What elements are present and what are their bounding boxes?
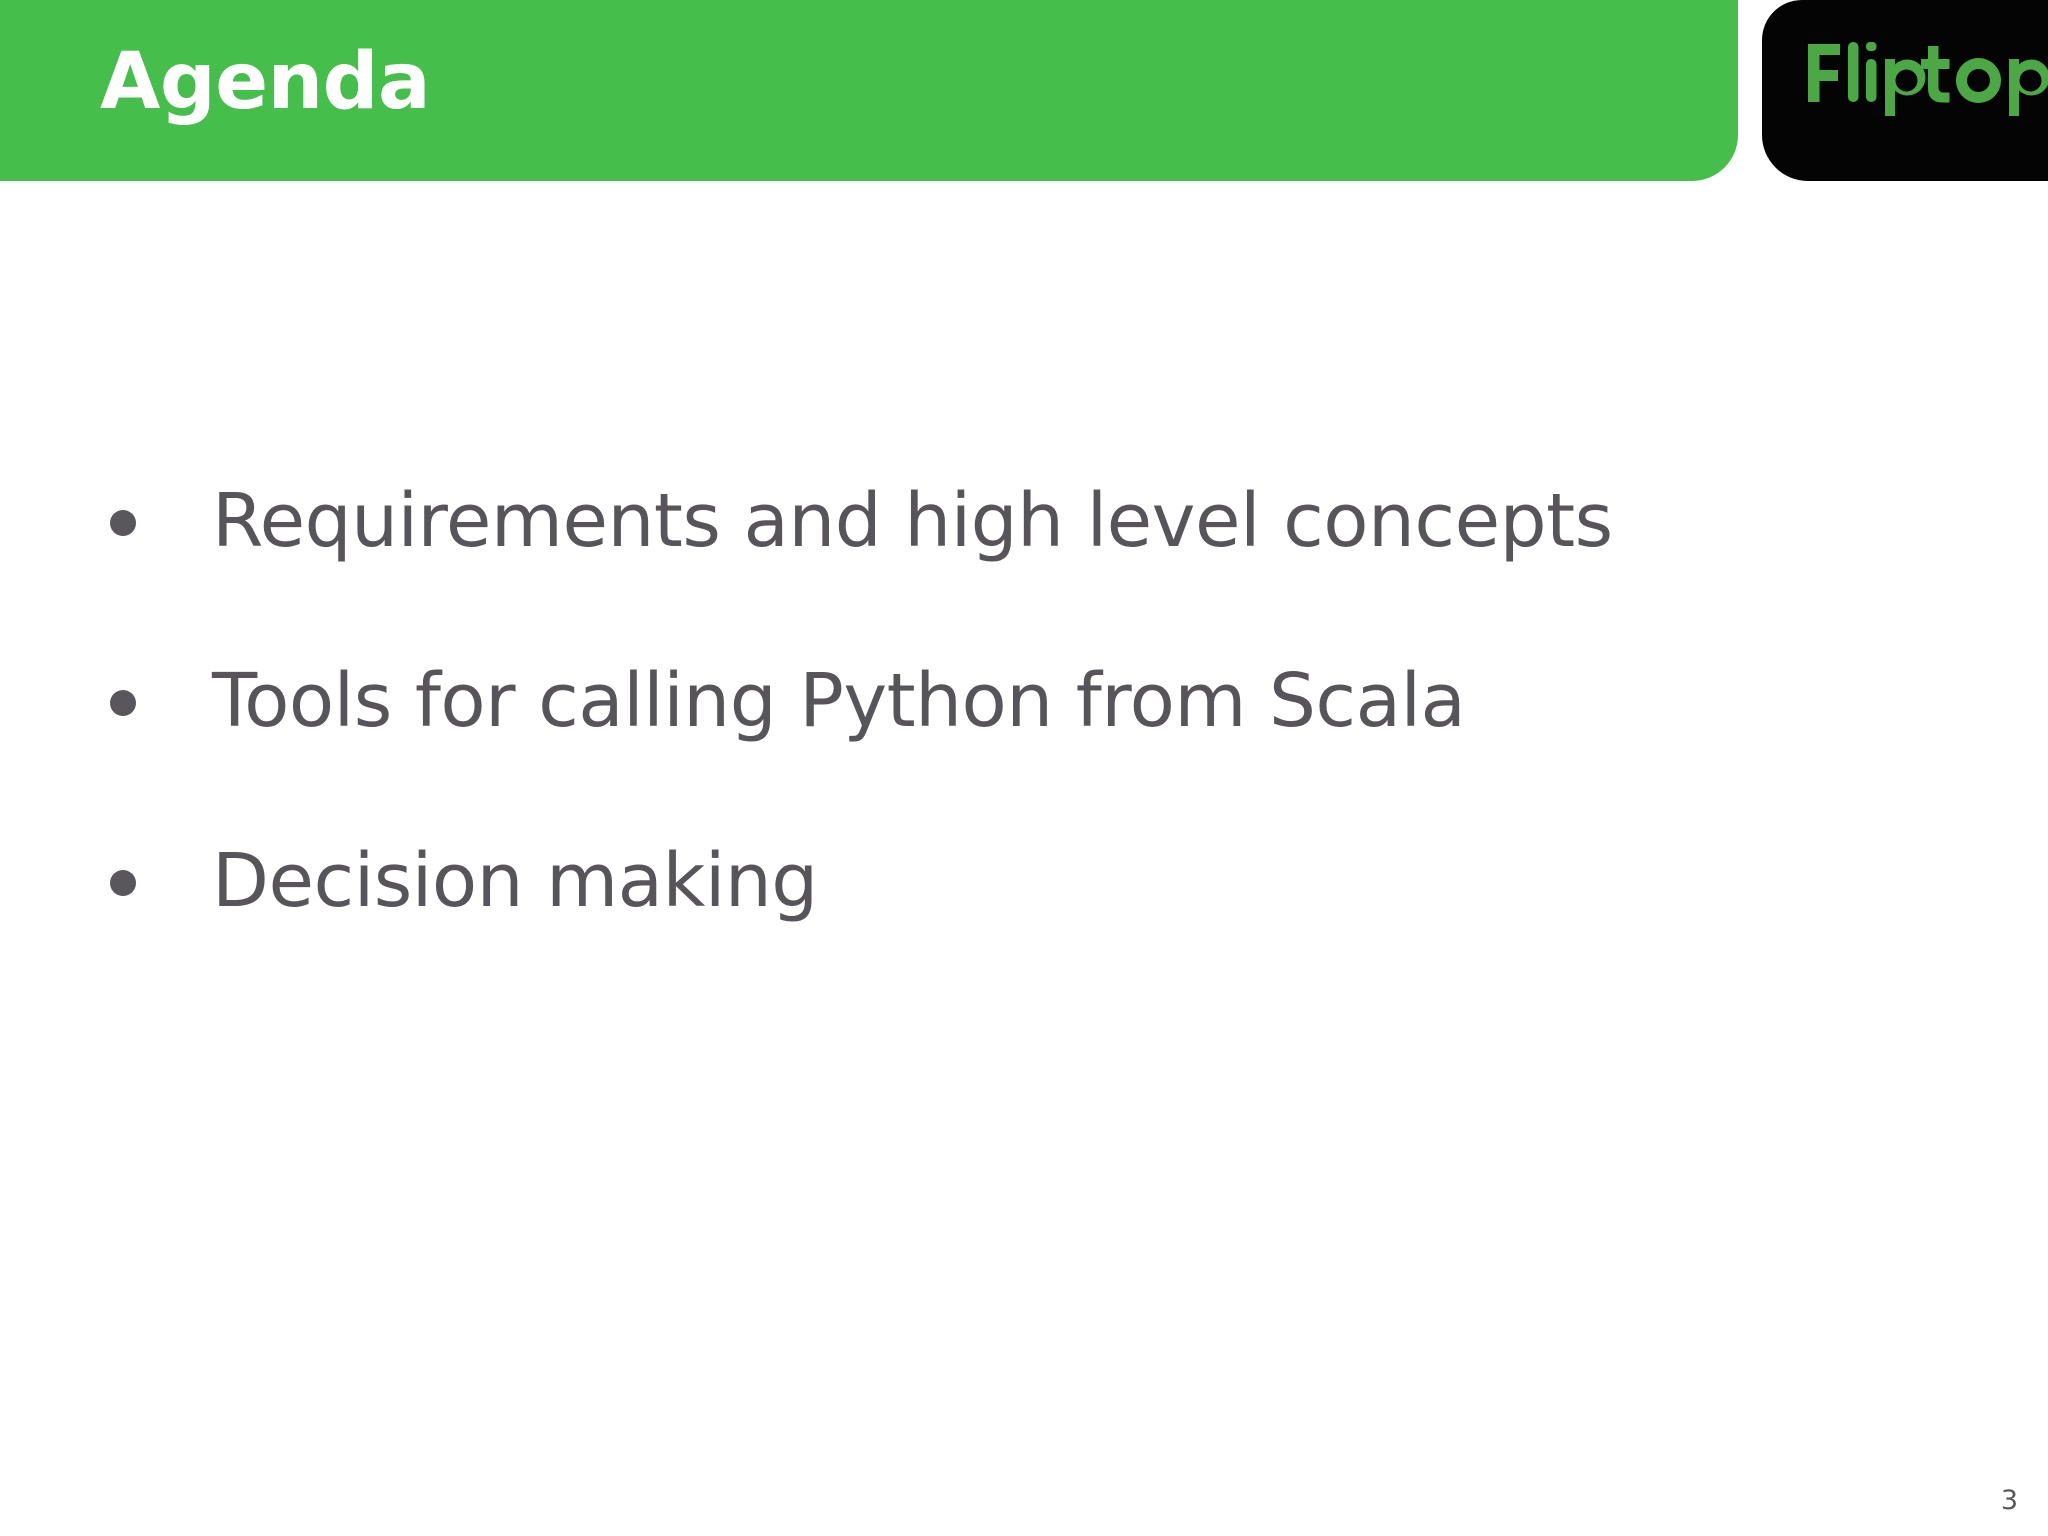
fliptop-logo-icon (1806, 36, 2048, 122)
slide: Agenda (0, 0, 2048, 1536)
bullet-item-label: Tools for calling Python from Scala (212, 652, 1900, 738)
bullet-item-label: Requirements and high level concepts (212, 472, 1900, 558)
bullet-dot-icon (110, 510, 136, 536)
page-number: 3 (2001, 1487, 2018, 1514)
list-item: Decision making (0, 832, 1900, 1012)
bullet-dot-icon (110, 690, 136, 716)
logo-container (1762, 0, 2048, 181)
header-bar: Agenda (0, 0, 1738, 181)
page-title: Agenda (100, 38, 430, 128)
bullet-item-label: Decision making (212, 832, 1900, 918)
list-item: Tools for calling Python from Scala (0, 652, 1900, 832)
bullet-dot-icon (110, 870, 136, 896)
agenda-bullet-list: Requirements and high level concepts Too… (0, 472, 1900, 1012)
list-item: Requirements and high level concepts (0, 472, 1900, 652)
